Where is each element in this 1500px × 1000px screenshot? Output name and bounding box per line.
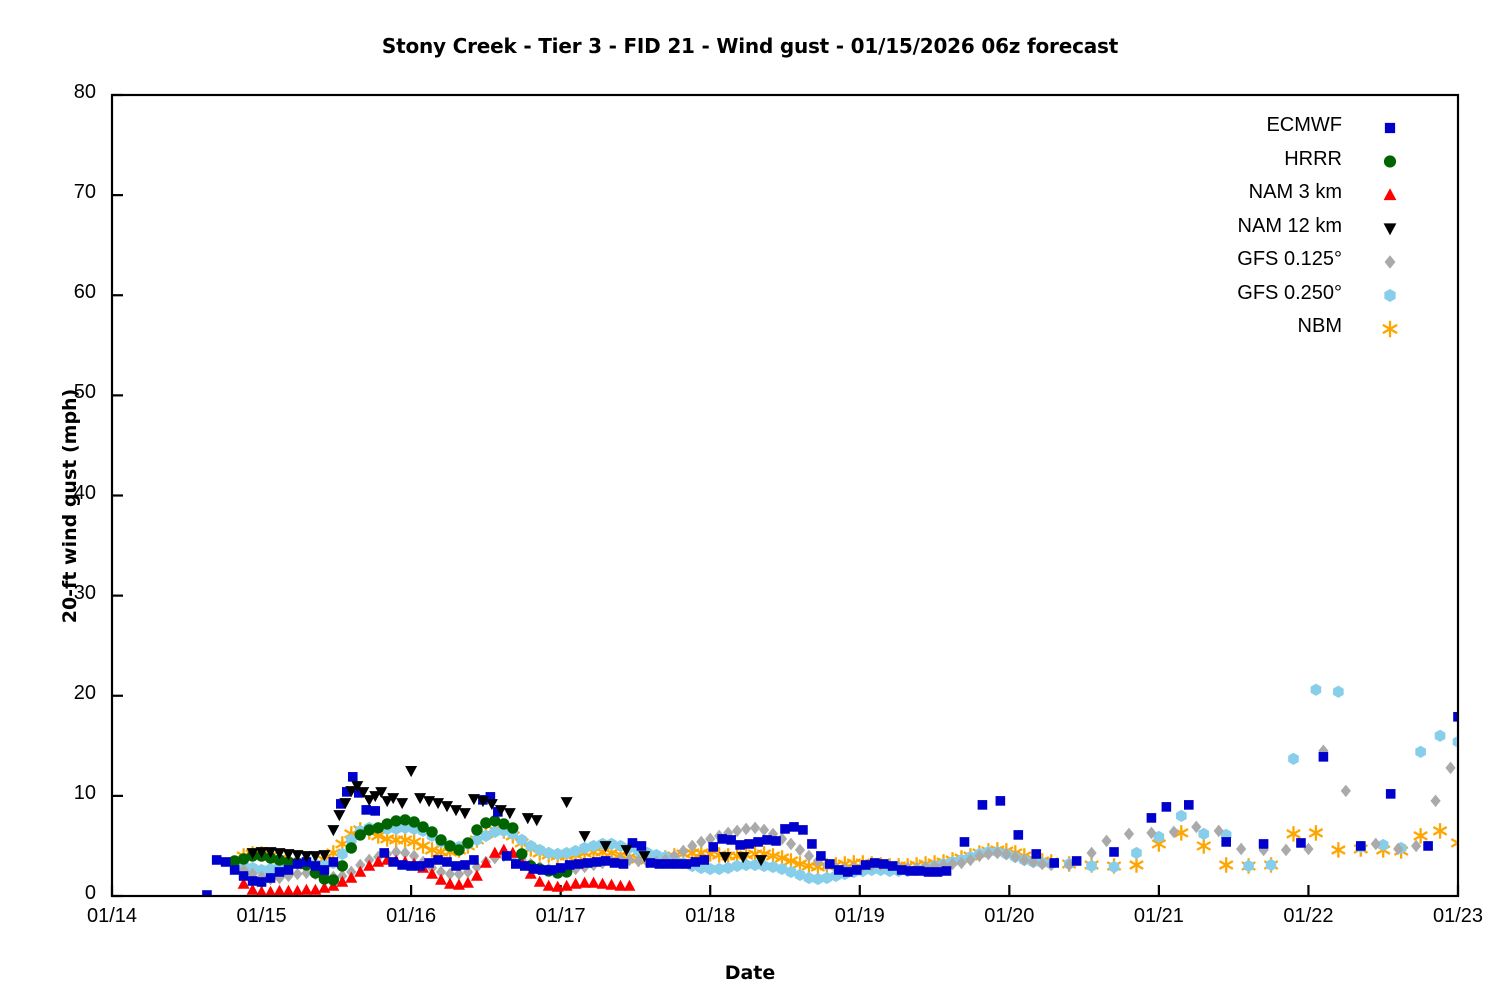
- marker-circle: [426, 826, 437, 837]
- marker-asterisk: [1469, 842, 1482, 858]
- marker-square: [1162, 802, 1172, 812]
- legend-marker-hexagon: [1384, 289, 1395, 302]
- marker-triangle-down: [450, 805, 462, 816]
- marker-square: [311, 861, 321, 871]
- legend-marker-triangle-up: [1384, 188, 1397, 200]
- marker-circle: [516, 848, 527, 859]
- legend-label-nbm: NBM: [1112, 315, 1342, 338]
- marker-triangle-down: [405, 766, 417, 777]
- marker-hexagon: [1311, 684, 1322, 696]
- marker-diamond: [795, 844, 805, 857]
- marker-hexagon: [1333, 686, 1344, 698]
- marker-square: [655, 859, 665, 869]
- marker-square: [852, 865, 862, 875]
- x-tick-label: 01/22: [1253, 905, 1363, 928]
- y-tick-label: 10: [26, 782, 96, 805]
- marker-square: [565, 860, 575, 870]
- marker-square: [529, 864, 539, 874]
- marker-square: [978, 800, 988, 810]
- marker-triangle-up: [453, 879, 465, 890]
- marker-triangle-up: [606, 879, 618, 890]
- marker-square: [547, 865, 557, 875]
- marker-triangle-up: [597, 878, 609, 889]
- marker-diamond: [1101, 835, 1111, 848]
- marker-square: [762, 835, 772, 845]
- marker-circle: [507, 822, 518, 833]
- marker-square: [1072, 856, 1082, 866]
- y-tick-label: 30: [26, 582, 96, 605]
- marker-triangle-up: [345, 872, 357, 883]
- legend-marker-circle: [1384, 155, 1396, 167]
- marker-square: [1147, 813, 1157, 823]
- marker-asterisk: [1332, 842, 1345, 858]
- marker-triangle-down: [504, 808, 516, 819]
- marker-triangle-down: [327, 825, 339, 836]
- marker-diamond: [1124, 828, 1134, 841]
- marker-diamond: [741, 823, 751, 836]
- marker-square: [816, 851, 826, 861]
- marker-square: [610, 858, 620, 868]
- marker-triangle-down: [432, 798, 444, 809]
- marker-diamond: [1341, 785, 1351, 798]
- marker-square: [275, 867, 285, 877]
- legend-marker-asterisk: [1383, 321, 1397, 338]
- marker-asterisk: [1309, 825, 1322, 841]
- marker-square: [646, 858, 656, 868]
- marker-diamond: [1430, 795, 1440, 808]
- marker-circle: [471, 824, 482, 835]
- marker-square: [637, 841, 647, 851]
- marker-square: [379, 848, 389, 858]
- marker-square: [699, 855, 709, 865]
- marker-hexagon: [1198, 828, 1209, 840]
- marker-square: [708, 842, 718, 852]
- marker-hexagon: [1288, 753, 1299, 765]
- marker-square: [960, 837, 970, 847]
- marker-diamond: [786, 838, 796, 851]
- marker-circle: [328, 874, 339, 885]
- marker-triangle-down: [522, 813, 534, 824]
- x-tick-label: 01/18: [655, 905, 765, 928]
- marker-triangle-up: [426, 868, 438, 879]
- marker-square: [442, 857, 452, 867]
- marker-triangle-down: [396, 798, 408, 809]
- marker-square: [583, 858, 593, 868]
- marker-square: [451, 861, 461, 871]
- x-tick-label: 01/16: [356, 905, 466, 928]
- marker-circle: [462, 837, 473, 848]
- y-tick-label: 60: [26, 281, 96, 304]
- legend-label-gfs-0-250: GFS 0.250°: [1112, 282, 1342, 305]
- marker-square: [230, 865, 240, 875]
- x-tick-label: 01/20: [954, 905, 1064, 928]
- marker-square: [433, 855, 443, 865]
- marker-asterisk: [1433, 823, 1446, 839]
- marker-triangle-up: [489, 847, 501, 858]
- marker-hexagon: [1176, 810, 1187, 822]
- marker-diamond: [292, 868, 302, 881]
- marker-square: [1356, 841, 1366, 851]
- marker-square: [415, 861, 425, 871]
- marker-square: [538, 865, 548, 875]
- marker-square: [771, 836, 781, 846]
- marker-square: [361, 805, 371, 815]
- marker-square: [320, 865, 330, 875]
- marker-asterisk: [1130, 857, 1143, 873]
- marker-square: [1184, 800, 1194, 810]
- marker-triangle-down: [579, 831, 591, 842]
- asterisk-ray: [1469, 846, 1482, 854]
- marker-square: [681, 859, 691, 869]
- marker-square: [239, 871, 249, 881]
- marker-square: [897, 865, 907, 875]
- marker-square: [406, 861, 416, 871]
- marker-square: [1049, 858, 1059, 868]
- marker-square: [397, 860, 407, 870]
- marker-hexagon: [1131, 847, 1142, 859]
- marker-square: [1386, 789, 1396, 799]
- legend-label-gfs-0-125: GFS 0.125°: [1112, 248, 1342, 271]
- marker-square: [1319, 752, 1329, 762]
- marker-diamond: [1086, 847, 1096, 860]
- marker-square: [329, 857, 339, 867]
- marker-hexagon: [1435, 730, 1446, 742]
- marker-square: [348, 772, 358, 782]
- marker-square: [266, 873, 276, 883]
- y-tick-label: 20: [26, 682, 96, 705]
- marker-square: [556, 863, 566, 873]
- marker-square: [257, 877, 267, 887]
- marker-hexagon: [1243, 860, 1254, 872]
- marker-square: [906, 866, 916, 876]
- data-layer: [202, 684, 1482, 900]
- marker-square: [574, 859, 584, 869]
- marker-square: [942, 866, 952, 876]
- marker-circle: [337, 860, 348, 871]
- y-tick-label: 50: [26, 381, 96, 404]
- marker-square: [879, 859, 889, 869]
- marker-diamond: [1281, 844, 1291, 857]
- x-tick-label: 01/23: [1403, 905, 1500, 928]
- marker-square: [924, 867, 934, 877]
- marker-triangle-up: [561, 880, 573, 891]
- marker-circle: [453, 844, 464, 855]
- marker-square: [870, 858, 880, 868]
- marker-square: [1423, 841, 1433, 851]
- marker-square: [789, 822, 799, 832]
- marker-square: [673, 859, 683, 869]
- marker-square: [861, 860, 871, 870]
- marker-square: [601, 856, 611, 866]
- marker-square: [735, 840, 745, 850]
- x-tick-label: 01/14: [57, 905, 167, 928]
- marker-square: [1109, 847, 1119, 857]
- marker-asterisk: [1197, 838, 1210, 854]
- marker-square: [248, 876, 258, 886]
- marker-diamond: [1236, 843, 1246, 856]
- marker-square: [1014, 830, 1024, 840]
- marker-triangle-down: [333, 810, 345, 821]
- x-tick-label: 01/19: [805, 905, 915, 928]
- marker-triangle-up: [471, 870, 483, 881]
- x-tick-label: 01/15: [207, 905, 317, 928]
- marker-triangle-up: [309, 884, 321, 895]
- wind-gust-chart: Stony Creek - Tier 3 - FID 21 - Wind gus…: [0, 0, 1500, 1000]
- marker-square: [1259, 839, 1269, 849]
- legend-label-nam-12-km: NAM 12 km: [1112, 215, 1342, 238]
- legend-label-ecmwf: ECMWF: [1112, 114, 1342, 137]
- marker-square: [388, 857, 398, 867]
- marker-circle: [346, 842, 357, 853]
- marker-triangle-down: [561, 797, 573, 808]
- marker-square: [825, 859, 835, 869]
- marker-diamond: [1445, 762, 1455, 775]
- marker-square: [1221, 837, 1231, 847]
- asterisk-ray: [1469, 846, 1482, 854]
- marker-square: [212, 855, 222, 865]
- marker-square: [469, 855, 479, 865]
- y-tick-label: 80: [26, 81, 96, 104]
- marker-square: [370, 806, 380, 816]
- marker-square: [511, 859, 521, 869]
- marker-diamond: [750, 822, 760, 835]
- marker-diamond: [696, 836, 706, 849]
- x-tick-label: 01/17: [506, 905, 616, 928]
- marker-diamond: [759, 824, 769, 837]
- marker-square: [933, 867, 943, 877]
- marker-square: [834, 865, 844, 875]
- marker-square: [221, 857, 231, 867]
- marker-square: [843, 867, 853, 877]
- marker-square: [915, 866, 925, 876]
- marker-hexagon: [1266, 859, 1277, 871]
- marker-hexagon: [1471, 857, 1482, 869]
- marker-square: [502, 851, 512, 861]
- marker-hexagon: [1415, 746, 1426, 758]
- marker-square: [520, 861, 530, 871]
- marker-triangle-up: [462, 877, 474, 888]
- marker-square: [807, 839, 817, 849]
- marker-square: [996, 796, 1006, 806]
- marker-triangle-down: [423, 796, 435, 807]
- legend-label-hrrr: HRRR: [1112, 148, 1342, 171]
- marker-triangle-up: [435, 874, 447, 885]
- marker-square: [460, 860, 470, 870]
- marker-triangle-down: [459, 808, 471, 819]
- marker-square: [717, 834, 727, 844]
- marker-square: [888, 861, 898, 871]
- legend-label-nam-3-km: NAM 3 km: [1112, 181, 1342, 204]
- marker-triangle-up: [354, 866, 366, 877]
- marker-triangle-down: [414, 793, 426, 804]
- y-tick-label: 70: [26, 181, 96, 204]
- marker-square: [1296, 838, 1306, 848]
- x-tick-label: 01/21: [1104, 905, 1214, 928]
- marker-triangle-up: [623, 880, 635, 891]
- marker-asterisk: [1219, 857, 1232, 873]
- marker-triangle-down: [531, 815, 543, 826]
- marker-square: [753, 837, 763, 847]
- marker-triangle-up: [588, 877, 600, 888]
- marker-square: [424, 858, 434, 868]
- marker-square: [664, 859, 674, 869]
- marker-square: [744, 839, 754, 849]
- marker-square: [202, 890, 212, 900]
- legend-marker-diamond: [1385, 255, 1396, 268]
- marker-square: [592, 857, 602, 867]
- marker-square: [798, 825, 808, 835]
- series-ecmwf: [202, 712, 1463, 900]
- marker-square: [619, 859, 629, 869]
- legend-marker-square: [1385, 123, 1395, 133]
- marker-square: [780, 824, 790, 834]
- marker-square: [690, 857, 700, 867]
- marker-square: [284, 865, 294, 875]
- marker-square: [1031, 849, 1041, 859]
- marker-square: [726, 835, 736, 845]
- legend-marker-triangle-down: [1384, 223, 1397, 235]
- y-tick-label: 0: [26, 882, 96, 905]
- marker-diamond: [1460, 803, 1470, 816]
- y-tick-label: 40: [26, 482, 96, 505]
- series-gfs-0-250: [238, 684, 1481, 885]
